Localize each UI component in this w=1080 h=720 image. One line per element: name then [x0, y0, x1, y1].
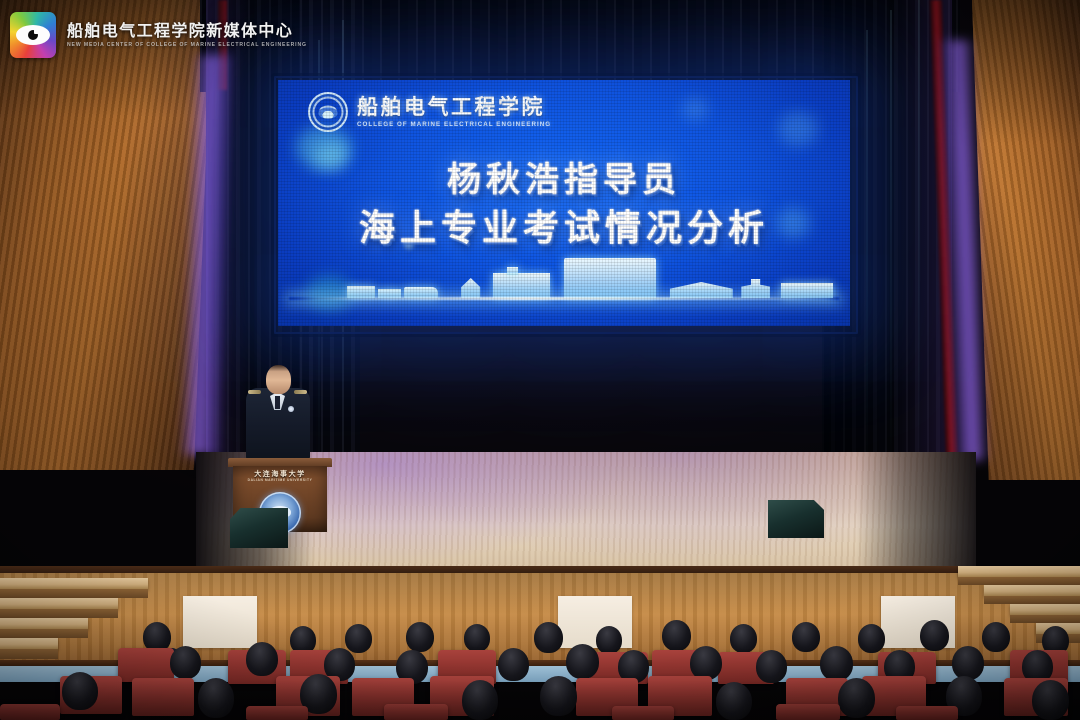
audience-head — [498, 648, 529, 681]
curtain-fold — [918, 0, 920, 480]
audience-head — [838, 678, 875, 718]
bokeh-orb — [778, 112, 818, 146]
audience-head — [756, 650, 787, 683]
screen-title-block: 杨秋浩指导员 海上专业考试情况分析 — [278, 160, 850, 251]
screen-header-cn: 船舶电气工程学院 — [357, 96, 551, 118]
curtain-fold — [866, 30, 868, 480]
uniform-epaulet-left — [248, 390, 261, 394]
skyline-light-streak — [289, 297, 838, 300]
eye-pupil — [28, 30, 38, 40]
curtain-fold — [890, 10, 892, 480]
audience-seat — [0, 704, 60, 720]
audience-seat — [132, 678, 194, 716]
presenter-at-podium: 大连海事大学 DALIAN MARITIME UNIVERSITY — [228, 362, 332, 532]
audience-head — [566, 644, 599, 679]
eye-sclera — [16, 25, 50, 45]
audience-head — [345, 624, 372, 653]
audience-seat — [118, 648, 174, 682]
audience-head — [462, 680, 498, 720]
audience-head — [596, 626, 622, 654]
audience-head — [792, 622, 820, 652]
audience-head — [62, 672, 98, 710]
campus-skyline-icon — [278, 258, 850, 320]
uniform-epaulet-right — [294, 390, 307, 394]
screen-title-line1: 杨秋浩指导员 — [278, 160, 850, 200]
stage-floor-shadow-right — [856, 452, 976, 570]
audience-seat — [896, 706, 958, 720]
audience-seat — [246, 706, 308, 720]
audience-head — [246, 642, 278, 676]
audience-seat — [776, 704, 840, 720]
podium-name-en: DALIAN MARITIME UNIVERSITY — [233, 478, 327, 482]
audience-head — [690, 646, 722, 680]
audience-head — [820, 646, 853, 681]
watermark-org-en: NEW MEDIA CENTER OF COLLEGE OF MARINE EL… — [67, 42, 307, 48]
bokeh-orb — [682, 98, 708, 120]
eye-logo-icon — [10, 12, 56, 58]
auditorium-photo: 船舶电气工程学院 COLLEGE OF MARINE ELECTRICAL EN… — [0, 0, 1080, 720]
audience-head — [406, 622, 434, 652]
audience-head — [952, 646, 984, 680]
audience-head — [1032, 680, 1069, 720]
audience-head — [662, 620, 691, 651]
screen-header-en: COLLEGE OF MARINE ELECTRICAL ENGINEERING — [357, 121, 551, 128]
audience-head — [540, 676, 577, 716]
audience-head — [534, 622, 563, 653]
screen-header: 船舶电气工程学院 COLLEGE OF MARINE ELECTRICAL EN… — [308, 92, 551, 132]
college-crest-icon — [308, 92, 348, 132]
audience-head — [730, 624, 757, 653]
stage-monitor-speaker-right — [768, 500, 824, 538]
wood-wall-right — [972, 0, 1080, 480]
audience-head — [858, 624, 885, 653]
audience-head — [920, 620, 949, 651]
audience-head — [464, 624, 490, 652]
audience-seat — [384, 704, 448, 720]
stage-monitor-speaker-left — [230, 508, 288, 548]
audience-head — [198, 678, 234, 718]
uniform-badge — [288, 406, 294, 412]
audience-head — [170, 646, 201, 679]
watermark-org-cn: 船舶电气工程学院新媒体中心 — [67, 22, 307, 40]
uniform-tie — [275, 396, 280, 409]
presenter-head — [266, 365, 291, 394]
wall-panel — [183, 596, 257, 648]
audience-head — [982, 622, 1010, 652]
led-presentation-screen: 船舶电气工程学院 COLLEGE OF MARINE ELECTRICAL EN… — [278, 80, 850, 326]
audience-seat — [612, 706, 674, 720]
screen-title-line2: 海上专业考试情况分析 — [278, 206, 850, 251]
audience-head — [716, 682, 752, 720]
watermark-overlay: 船舶电气工程学院新媒体中心 NEW MEDIA CENTER OF COLLEG… — [10, 12, 307, 58]
